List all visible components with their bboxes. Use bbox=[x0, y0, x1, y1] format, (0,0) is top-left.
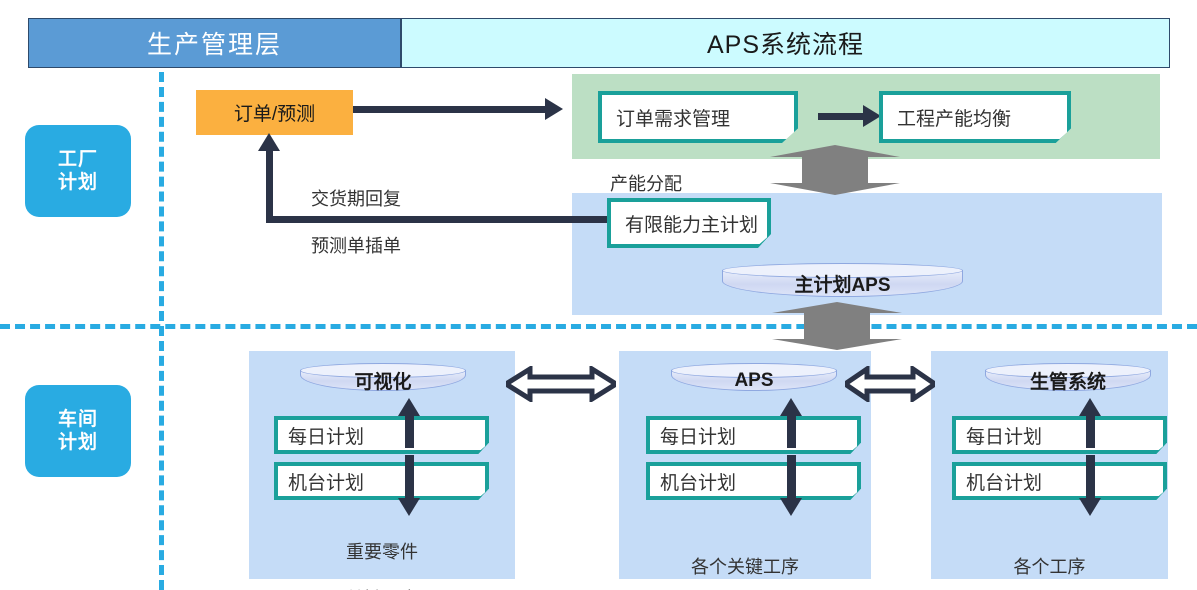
caption-aps-footer: 各个关键工序 bbox=[619, 533, 871, 590]
cylinder-visualization-label: 可视化 bbox=[300, 370, 466, 391]
arrowhead-mes-up bbox=[1079, 398, 1101, 416]
cylinder-master-plan-aps[interactable]: 主计划APS bbox=[722, 263, 963, 290]
double-arrow-icon-left bbox=[506, 366, 616, 402]
cylinder-aps-label: APS bbox=[671, 370, 837, 391]
connector-aps-down-shaft bbox=[787, 455, 796, 503]
side-label-factory-line1: 工厂 bbox=[58, 148, 98, 171]
arrowhead-aps-down bbox=[780, 498, 802, 516]
box-order-demand-management[interactable]: 订单需求管理 bbox=[598, 91, 798, 143]
feedback-caption: 交货期回复 预测单插单 bbox=[311, 165, 401, 282]
order-forecast-label: 订单/预测 bbox=[234, 99, 315, 126]
cylinder-aps[interactable]: APS bbox=[671, 363, 837, 384]
double-arrow-icon-right bbox=[845, 366, 935, 402]
side-label-shop-plan[interactable]: 车间 计划 bbox=[25, 385, 131, 477]
cylinder-production-management-system[interactable]: 生管系统 bbox=[985, 363, 1151, 384]
arrowhead-aps-up bbox=[780, 398, 802, 416]
fat-arrow-blue-to-shop bbox=[772, 302, 902, 350]
connector-vis-up-shaft bbox=[405, 412, 414, 448]
connector-feedback-vertical bbox=[266, 148, 273, 223]
connector-aps-up-shaft bbox=[787, 412, 796, 448]
side-label-factory-line2: 计划 bbox=[58, 171, 98, 194]
box-daily-plan-mes[interactable]: 每日计划 bbox=[952, 416, 1167, 454]
double-arrow-vis-aps bbox=[506, 366, 616, 407]
arrowhead-feedback-to-order bbox=[258, 133, 280, 151]
horizontal-dashed-divider bbox=[0, 324, 1197, 329]
connector-mes-down-shaft bbox=[1086, 455, 1095, 503]
fat-arrow-down-icon-2 bbox=[772, 302, 902, 350]
side-label-factory-plan[interactable]: 工厂 计划 bbox=[25, 125, 131, 217]
box-machine-plan-mes[interactable]: 机台计划 bbox=[952, 462, 1167, 500]
box-daily-plan-label: 每日计划 bbox=[966, 422, 1042, 449]
caption-aps-footer-line1: 各个关键工序 bbox=[619, 556, 871, 579]
cylinder-production-management-system-label: 生管系统 bbox=[985, 370, 1151, 391]
caption-visualization-footer-line1: 重要零件 bbox=[249, 541, 515, 564]
header-right-label: APS系统流程 bbox=[707, 25, 864, 61]
box-machine-plan-label: 机台计划 bbox=[660, 468, 736, 495]
box-daily-plan-visualization[interactable]: 每日计划 bbox=[274, 416, 489, 454]
caption-visualization-footer: 重要零件 关键工序 bbox=[249, 518, 515, 590]
box-daily-plan-aps[interactable]: 每日计划 bbox=[646, 416, 861, 454]
arrowhead-demand-to-capacity bbox=[863, 105, 881, 127]
connector-order-to-demand bbox=[353, 106, 545, 113]
box-engineering-capacity-balance-label: 工程产能均衡 bbox=[897, 104, 1011, 131]
cylinder-master-plan-aps-label: 主计划APS bbox=[722, 270, 963, 297]
box-machine-plan-label: 机台计划 bbox=[288, 468, 364, 495]
box-engineering-capacity-balance[interactable]: 工程产能均衡 bbox=[879, 91, 1071, 143]
header-production-management-layer: 生产管理层 bbox=[28, 18, 401, 68]
arrowhead-order-to-demand bbox=[545, 98, 563, 120]
diagram-canvas: 生产管理层 APS系统流程 工厂 计划 车间 计划 订单/预测 交货期回复 预测… bbox=[0, 0, 1197, 590]
cylinder-visualization[interactable]: 可视化 bbox=[300, 363, 466, 384]
side-label-shop-line1: 车间 bbox=[58, 408, 98, 431]
box-machine-plan-visualization[interactable]: 机台计划 bbox=[274, 462, 489, 500]
order-forecast-box[interactable]: 订单/预测 bbox=[196, 90, 353, 135]
box-machine-plan-label: 机台计划 bbox=[966, 468, 1042, 495]
connector-mes-up-shaft bbox=[1086, 412, 1095, 448]
side-label-shop-line2: 计划 bbox=[58, 431, 98, 454]
box-finite-capacity-master-plan[interactable]: 有限能力主计划 bbox=[607, 198, 771, 248]
box-machine-plan-aps[interactable]: 机台计划 bbox=[646, 462, 861, 500]
arrowhead-vis-down bbox=[398, 498, 420, 516]
connector-demand-to-capacity bbox=[818, 113, 866, 120]
box-daily-plan-label: 每日计划 bbox=[660, 422, 736, 449]
vertical-dashed-divider bbox=[159, 72, 164, 590]
header-left-label: 生产管理层 bbox=[147, 25, 282, 61]
caption-mes-footer-line1: 各个工序 bbox=[931, 556, 1168, 579]
double-arrow-aps-mes bbox=[845, 366, 935, 407]
arrowhead-vis-up bbox=[398, 398, 420, 416]
connector-vis-down-shaft bbox=[405, 455, 414, 503]
fat-arrow-down-icon-1 bbox=[770, 145, 900, 195]
box-order-demand-management-label: 订单需求管理 bbox=[616, 104, 730, 131]
box-daily-plan-label: 每日计划 bbox=[288, 422, 364, 449]
caption-mes-footer: 各个工序 bbox=[931, 533, 1168, 590]
box-finite-capacity-master-plan-label: 有限能力主计划 bbox=[625, 210, 758, 237]
arrowhead-mes-down bbox=[1079, 498, 1101, 516]
capacity-allocation-line1: 产能分配 bbox=[610, 173, 718, 196]
fat-arrow-green-to-blue bbox=[770, 145, 900, 195]
header-aps-system-flow: APS系统流程 bbox=[401, 18, 1170, 68]
feedback-caption-line2: 预测单插单 bbox=[311, 235, 401, 258]
feedback-caption-line1: 交货期回复 bbox=[311, 188, 401, 211]
